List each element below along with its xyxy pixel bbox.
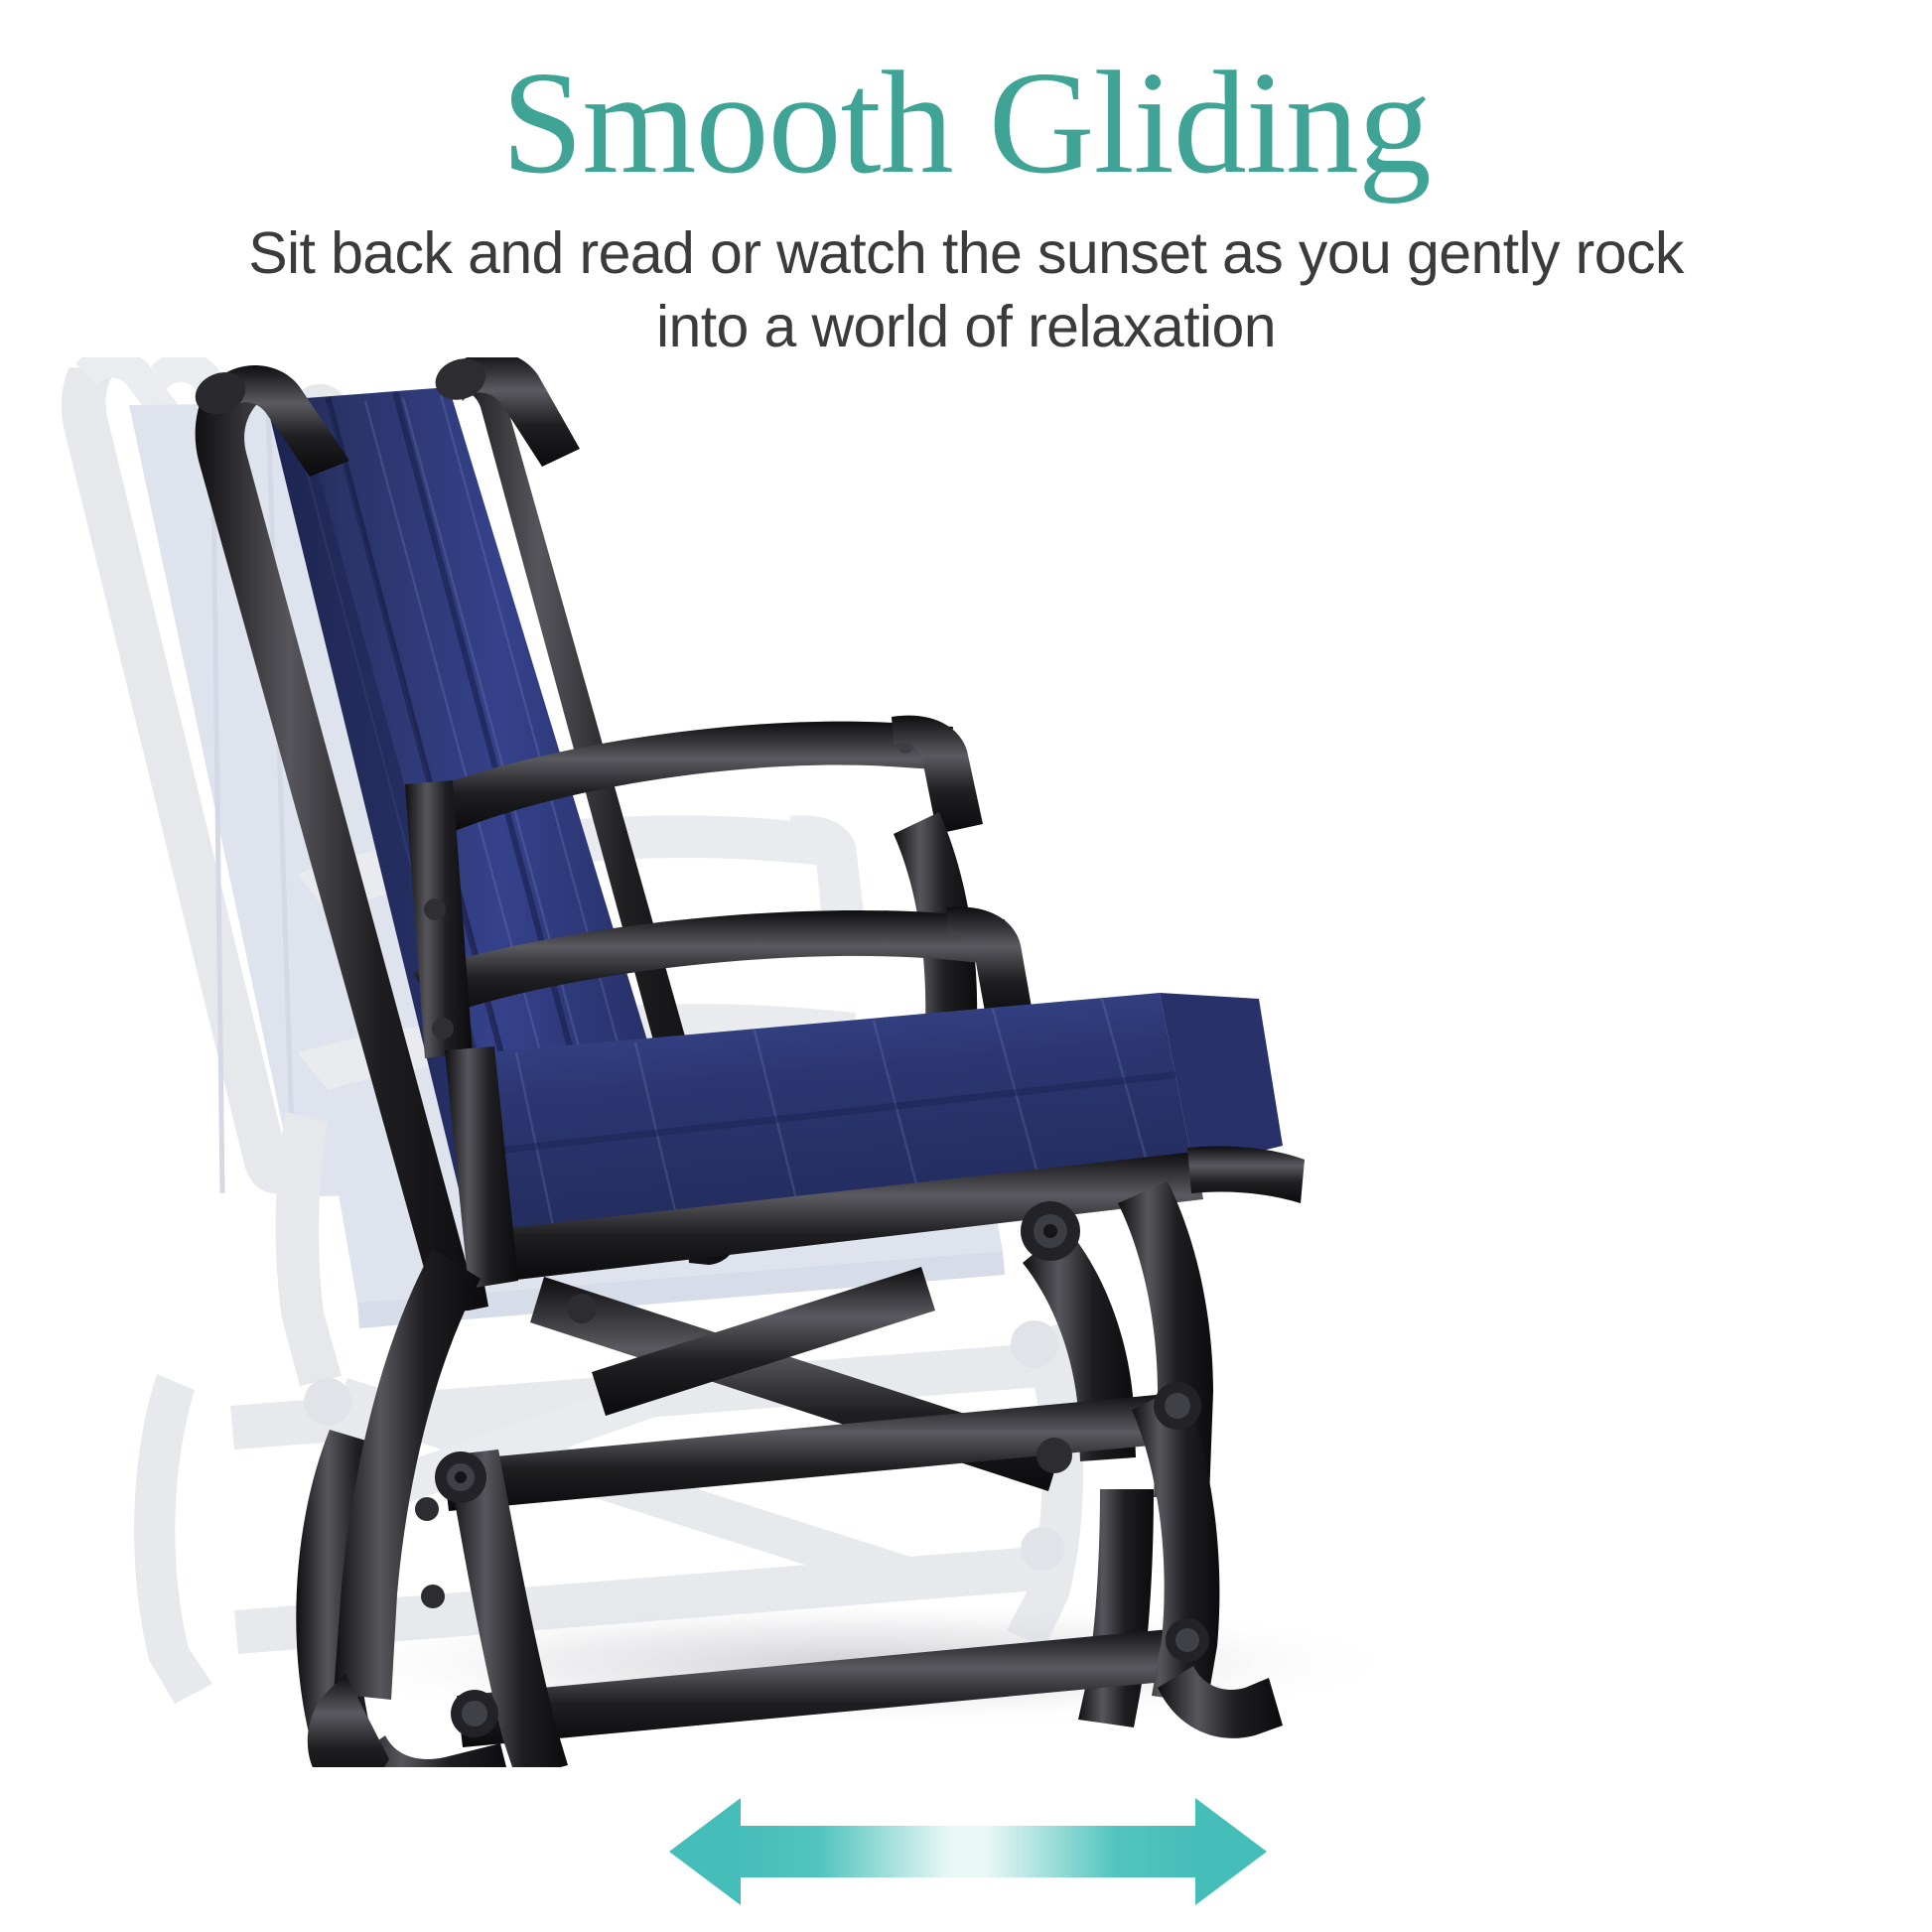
glide-direction-arrow [655,1782,1281,1921]
subtitle-line-2: into a world of relaxation [172,290,1760,363]
product-image-glider-chair [0,357,1932,1767]
marketing-image-canvas: Smooth Gliding Sit back and read or watc… [0,0,1932,1932]
page-title: Smooth Gliding [0,48,1932,201]
page-subtitle: Sit back and read or watch the sunset as… [172,216,1760,364]
seat-side-rail-right [1187,1147,1305,1204]
subtitle-line-1: Sit back and read or watch the sunset as… [248,220,1684,286]
arrowhead-right [1195,1798,1267,1905]
armrest-rivet [898,740,912,754]
arrow-shaft [737,1826,1199,1877]
arrowhead-left [669,1798,741,1905]
